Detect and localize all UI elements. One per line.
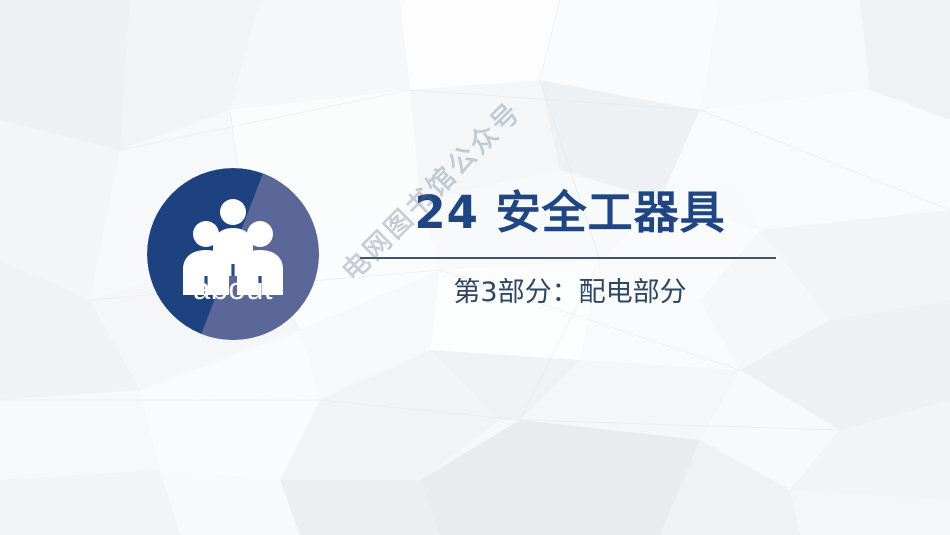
title-divider xyxy=(360,257,776,259)
page-subtitle: 第3部分：配电部分 xyxy=(360,277,780,309)
badge-label: about xyxy=(147,273,319,304)
page-title: 24 安全工器具 xyxy=(360,188,780,238)
title-block: 24 安全工器具 第3部分：配电部分 xyxy=(360,188,780,310)
badge-graphic xyxy=(147,168,319,340)
about-badge: about xyxy=(147,168,319,340)
presentation-slide: about 24 安全工器具 第3部分：配电部分 电网图书馆公众号 xyxy=(0,0,950,535)
